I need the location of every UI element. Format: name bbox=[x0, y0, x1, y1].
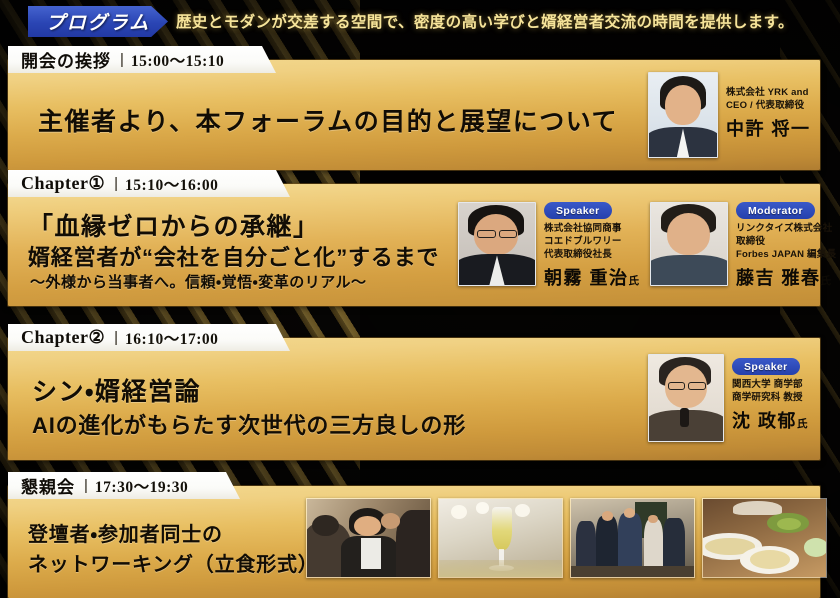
speaker-photo bbox=[458, 202, 536, 286]
speaker-name: 中許 将一 bbox=[726, 115, 811, 141]
section-headline-3: 〜外様から当事者へ。信頼・覚悟・変革のリアル〜 bbox=[30, 271, 367, 292]
networking-photo-conversation bbox=[306, 498, 431, 578]
section-tab: Chapter① | 15:10〜16:00 bbox=[8, 170, 290, 197]
tab-title: Chapter① bbox=[21, 173, 105, 194]
speaker-card: Speaker 株式会社協同商事 コエドブルワリー 代表取締役社長 朝霧 重治氏 bbox=[458, 202, 639, 290]
section-headline: 登壇者・参加者同士の bbox=[28, 518, 223, 547]
moderator-affiliation-line: 取締役 bbox=[736, 235, 836, 248]
speaker-name-suffix: 氏 bbox=[797, 418, 808, 430]
speaker-affiliation-line: CEO / 代表取締役 bbox=[726, 99, 811, 112]
tab-time: 17:30〜19:30 bbox=[95, 475, 188, 497]
speaker-name: 沈 政郁氏 bbox=[732, 407, 808, 433]
section-tab: Chapter② | 16:10〜17:00 bbox=[8, 324, 290, 351]
section-headline-2: AIの進化がもらたす次世代の三方良しの形 bbox=[32, 408, 466, 440]
speaker-name-suffix: 氏 bbox=[629, 275, 640, 287]
tab-time: 15:00〜15:10 bbox=[131, 49, 224, 71]
tab-time: 16:10〜17:00 bbox=[125, 327, 218, 349]
speaker-affiliation-line: 株式会社協同商事 bbox=[544, 222, 639, 235]
speaker-role-badge: Speaker bbox=[544, 202, 612, 219]
speaker-text: Speaker 株式会社協同商事 コエドブルワリー 代表取締役社長 朝霧 重治氏 bbox=[544, 202, 639, 290]
speaker-name: 朝霧 重治氏 bbox=[544, 264, 639, 290]
speaker-affiliation-line: 商学研究科 教授 bbox=[732, 391, 808, 404]
tab-separator: | bbox=[114, 175, 118, 192]
section-headline: 「血縁ゼロからの承継」 bbox=[28, 207, 320, 243]
section-headline: シン・婿経営論 bbox=[32, 372, 201, 408]
speaker-card: 株式会社 YRK and CEO / 代表取締役 中許 将一 bbox=[648, 72, 811, 158]
networking-photo-reception bbox=[570, 498, 695, 578]
tab-separator: | bbox=[114, 329, 118, 346]
tab-title: Chapter② bbox=[21, 327, 105, 348]
moderator-role-badge: Moderator bbox=[736, 202, 815, 219]
section-headline-2: ネットワーキング（立食形式） bbox=[28, 548, 319, 577]
speaker-name-text: 中許 将一 bbox=[726, 119, 811, 139]
speaker-name-text: 朝霧 重治 bbox=[544, 268, 629, 288]
tab-title: 懇親会 bbox=[21, 473, 75, 498]
program-banner-label: プログラム bbox=[46, 8, 150, 35]
tab-title: 開会の挨拶 bbox=[21, 47, 111, 72]
poster-header: プログラム 歴史とモダンが交差する空間で、密度の高い学びと婿経営者交流の時間を提… bbox=[0, 4, 840, 40]
tab-separator: | bbox=[84, 477, 88, 494]
speaker-affiliation-line: 株式会社 YRK and bbox=[726, 86, 811, 99]
speaker-photo bbox=[648, 354, 724, 442]
section-tab: 開会の挨拶 | 15:00〜15:10 bbox=[8, 46, 276, 73]
section-headline: 主催者より、本フォーラムの目的と展望について bbox=[38, 102, 618, 138]
section-headline-2: 婿経営者が“会社を自分ごと化”するまで bbox=[28, 240, 439, 272]
moderator-card: Moderator リンクタイズ株式会社 取締役 Forbes JAPAN 編集… bbox=[650, 202, 836, 290]
networking-photo-strip bbox=[306, 498, 827, 578]
moderator-affiliation-line: Forbes JAPAN 編集長 bbox=[736, 248, 836, 261]
speaker-text: Speaker 関西大学 商学部 商学研究科 教授 沈 政郁氏 bbox=[732, 354, 808, 433]
speaker-affiliation-line: 関西大学 商学部 bbox=[732, 378, 808, 391]
moderator-affiliation-line: リンクタイズ株式会社 bbox=[736, 222, 836, 235]
moderator-name: 藤吉 雅春氏 bbox=[736, 264, 836, 290]
speaker-photo bbox=[648, 72, 718, 158]
speaker-affiliation-line: 代表取締役社長 bbox=[544, 248, 639, 261]
networking-photo-buffet bbox=[702, 498, 827, 578]
speaker-name-text: 沈 政郁 bbox=[732, 411, 797, 431]
header-lead-text: 歴史とモダンが交差する空間で、密度の高い学びと婿経営者交流の時間を提供します。 bbox=[176, 10, 826, 32]
moderator-text: Moderator リンクタイズ株式会社 取締役 Forbes JAPAN 編集… bbox=[736, 202, 836, 290]
speaker-affiliation-line: コエドブルワリー bbox=[544, 235, 639, 248]
moderator-name-text: 藤吉 雅春 bbox=[736, 268, 821, 288]
moderator-name-suffix: 氏 bbox=[821, 275, 832, 287]
program-banner: プログラム bbox=[28, 6, 168, 37]
program-poster: プログラム 歴史とモダンが交差する空間で、密度の高い学びと婿経営者交流の時間を提… bbox=[0, 0, 840, 598]
speaker-card: Speaker 関西大学 商学部 商学研究科 教授 沈 政郁氏 bbox=[648, 354, 808, 442]
moderator-photo bbox=[650, 202, 728, 286]
networking-photo-champagne bbox=[438, 498, 563, 578]
tab-time: 15:10〜16:00 bbox=[125, 173, 218, 195]
speaker-role-badge: Speaker bbox=[732, 358, 800, 375]
speaker-text: 株式会社 YRK and CEO / 代表取締役 中許 将一 bbox=[726, 72, 811, 141]
tab-separator: | bbox=[120, 51, 124, 68]
section-tab: 懇親会 | 17:30〜19:30 bbox=[8, 472, 240, 499]
